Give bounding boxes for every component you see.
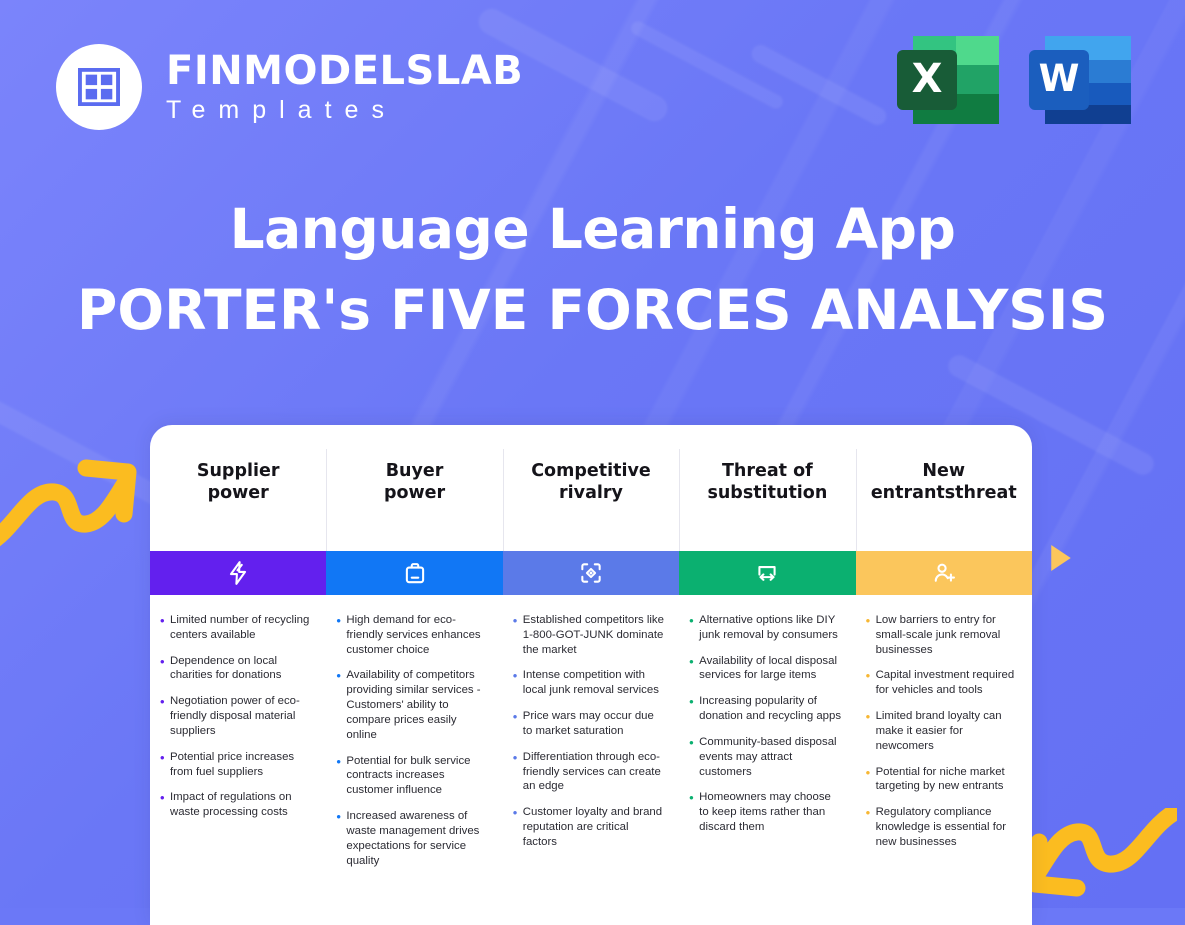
bullet-marker: •: [513, 750, 523, 794]
lightning-bolt-icon: [225, 560, 251, 586]
list-item: •Potential price increases from fuel sup…: [160, 750, 312, 780]
logo-title: FINMODELSLAB: [166, 51, 523, 91]
bullet-text: Homeowners may choose to keep items rath…: [699, 790, 841, 834]
page-header: FINMODELSLAB Templates X: [0, 0, 1185, 170]
bullet-marker: •: [160, 750, 170, 780]
bullet-list: • Low barriers to entry for small-scale …: [856, 595, 1032, 881]
bullet-text: Limited number of recycling centers avai…: [170, 613, 312, 643]
column-title-line1: Supplier: [160, 461, 316, 483]
bullet-text: High demand for eco-friendly services en…: [346, 613, 488, 657]
list-item: •Capital investment required for vehicle…: [866, 668, 1018, 698]
bullet-text: Dependence on local charities for donati…: [170, 654, 312, 684]
bullet-marker: •: [866, 668, 876, 698]
list-item: •Increasing popularity of donation and r…: [689, 694, 841, 724]
list-item: •Increased awareness of waste management…: [336, 809, 488, 868]
page-title-main: PORTER's FIVE FORCES ANALYSIS: [0, 279, 1185, 342]
list-item: •Dependence on local charities for donat…: [160, 654, 312, 684]
list-item: •Homeowners may choose to keep items rat…: [689, 790, 841, 834]
squiggle-arrow-up-right-icon: [0, 432, 138, 555]
bullet-list: •Established competitors like 1-800-GOT-…: [503, 595, 679, 881]
list-item: •Regulatory compliance knowledge is esse…: [866, 805, 1018, 849]
list-item: • Limited number of recycling centers av…: [160, 613, 312, 643]
bullet-marker: •: [689, 694, 699, 724]
list-item: • Low barriers to entry for small-scale …: [866, 613, 1018, 657]
logo-subtitle: Templates: [166, 98, 523, 123]
bullet-marker: •: [866, 709, 876, 753]
bullet-marker: •: [689, 735, 699, 779]
bullet-text: Availability of local disposal services …: [699, 654, 841, 684]
bullet-marker: •: [866, 765, 876, 795]
column-header: Supplier power: [150, 425, 326, 551]
force-column-buyer-power: Buyer power • High demand for eco-friend…: [326, 425, 502, 899]
bullet-text: Low barriers to entry for small-scale ju…: [876, 613, 1018, 657]
list-item: •Price wars may occur due to market satu…: [513, 709, 665, 739]
list-item: •Limited brand loyalty can make it easie…: [866, 709, 1018, 753]
column-title-line1: Competitive: [513, 461, 669, 483]
bullet-marker: •: [866, 805, 876, 849]
bullet-text: Limited brand loyalty can make it easier…: [876, 709, 1018, 753]
bullet-list: • Limited number of recycling centers av…: [150, 595, 326, 851]
force-column-new-entrants-threat: New entrantsthreat • Low barriers to ent…: [856, 425, 1032, 899]
column-header: Competitive rivalry: [503, 425, 679, 551]
list-item: •Community-based disposal events may att…: [689, 735, 841, 779]
bullet-marker: •: [513, 805, 523, 849]
excel-icon: X: [893, 27, 1003, 131]
list-item: •Negotiation power of eco-friendly dispo…: [160, 694, 312, 738]
logo-badge: [56, 44, 142, 130]
column-title-line1: Buyer: [336, 461, 492, 483]
icon-band: [150, 551, 326, 595]
bullet-text: Increased awareness of waste management …: [346, 809, 488, 868]
focus-target-icon: [578, 560, 604, 586]
bullet-text: Regulatory compliance knowledge is essen…: [876, 805, 1018, 849]
bullet-marker: •: [160, 613, 170, 643]
bullet-marker: •: [336, 668, 346, 742]
bullet-marker: •: [513, 668, 523, 698]
icon-band: [856, 551, 1032, 595]
add-person-icon: [931, 560, 957, 586]
icon-band: [679, 551, 855, 595]
bullet-text: Availability of competitors providing si…: [346, 668, 488, 742]
bullet-text: Community-based disposal events may attr…: [699, 735, 841, 779]
bullet-text: Price wars may occur due to market satur…: [523, 709, 665, 739]
page-title-block: Language Learning App PORTER's FIVE FORC…: [0, 198, 1185, 343]
bullet-text: Impact of regulations on waste processin…: [170, 790, 312, 820]
list-item: •Potential for bulk service contracts in…: [336, 754, 488, 798]
bullet-marker: •: [866, 613, 876, 657]
icon-band: [503, 551, 679, 595]
bullet-text: Alternative options like DIY junk remova…: [699, 613, 841, 643]
grid-2x2-icon: [78, 68, 120, 106]
bullet-marker: •: [513, 709, 523, 739]
column-title-line2: power: [336, 483, 492, 505]
bullet-marker: •: [160, 694, 170, 738]
bullet-text: Potential for bulk service contracts inc…: [346, 754, 488, 798]
column-title-line2: entrantsthreat: [866, 483, 1022, 505]
office-icons: X W: [893, 27, 1135, 131]
bullet-text: Customer loyalty and brand reputation ar…: [523, 805, 665, 849]
column-title-line1: New: [866, 461, 1022, 483]
list-item: • Alternative options like DIY junk remo…: [689, 613, 841, 643]
column-header: Threat of substitution: [679, 425, 855, 551]
band-arrow-tip: [1048, 545, 1074, 571]
svg-text:W: W: [1039, 57, 1080, 100]
force-columns: Supplier power • Limited number of recyc…: [150, 425, 1032, 899]
bullet-marker: •: [689, 654, 699, 684]
bullet-text: Intense competition with local junk remo…: [523, 668, 665, 698]
swap-arrows-icon: [754, 560, 780, 586]
bullet-marker: •: [160, 790, 170, 820]
column-title-line2: rivalry: [513, 483, 669, 505]
bullet-marker: •: [513, 613, 523, 657]
bullet-marker: •: [336, 613, 346, 657]
bullet-text: Differentiation through eco-friendly ser…: [523, 750, 665, 794]
briefcase-icon: [402, 560, 428, 586]
bullet-marker: •: [689, 613, 699, 643]
list-item: •Impact of regulations on waste processi…: [160, 790, 312, 820]
column-title-line2: power: [160, 483, 316, 505]
bullet-text: Potential for niche market targeting by …: [876, 765, 1018, 795]
bullet-text: Potential price increases from fuel supp…: [170, 750, 312, 780]
column-header: Buyer power: [326, 425, 502, 551]
list-item: •Potential for niche market targeting by…: [866, 765, 1018, 795]
column-title-line1: Threat of: [689, 461, 845, 483]
list-item: • High demand for eco-friendly services …: [336, 613, 488, 657]
force-column-competitive-rivalry: Competitive rivalry •Established competi…: [503, 425, 679, 899]
list-item: •Availability of competitors providing s…: [336, 668, 488, 742]
column-title-line2: substitution: [689, 483, 845, 505]
bullet-list: • Alternative options like DIY junk remo…: [679, 595, 855, 866]
list-item: •Availability of local disposal services…: [689, 654, 841, 684]
list-item: •Differentiation through eco-friendly se…: [513, 750, 665, 794]
five-forces-card: Supplier power • Limited number of recyc…: [150, 425, 1032, 925]
brand-logo: FINMODELSLAB Templates: [56, 44, 523, 130]
bullet-marker: •: [160, 654, 170, 684]
icon-band: [326, 551, 502, 595]
bullet-text: Capital investment required for vehicles…: [876, 668, 1018, 698]
force-column-supplier-power: Supplier power • Limited number of recyc…: [150, 425, 326, 899]
svg-text:X: X: [912, 56, 943, 102]
bullet-list: • High demand for eco-friendly services …: [326, 595, 502, 899]
word-icon: W: [1025, 27, 1135, 131]
bullet-text: Increasing popularity of donation and re…: [699, 694, 841, 724]
bullet-text: Negotiation power of eco-friendly dispos…: [170, 694, 312, 738]
squiggle-arrow-down-left-icon: [1025, 808, 1177, 913]
page-title-subject: Language Learning App: [0, 198, 1185, 261]
bullet-marker: •: [336, 754, 346, 798]
bullet-marker: •: [689, 790, 699, 834]
column-header: New entrantsthreat: [856, 425, 1032, 551]
logo-title-text: FINMODELSLAB: [166, 48, 523, 94]
force-column-threat-of-substitution: Threat of substitution • Alternative opt…: [679, 425, 855, 899]
bullet-marker: •: [336, 809, 346, 868]
list-item: •Intense competition with local junk rem…: [513, 668, 665, 698]
list-item: •Customer loyalty and brand reputation a…: [513, 805, 665, 849]
bullet-text: Established competitors like 1-800-GOT-J…: [523, 613, 665, 657]
list-item: •Established competitors like 1-800-GOT-…: [513, 613, 665, 657]
